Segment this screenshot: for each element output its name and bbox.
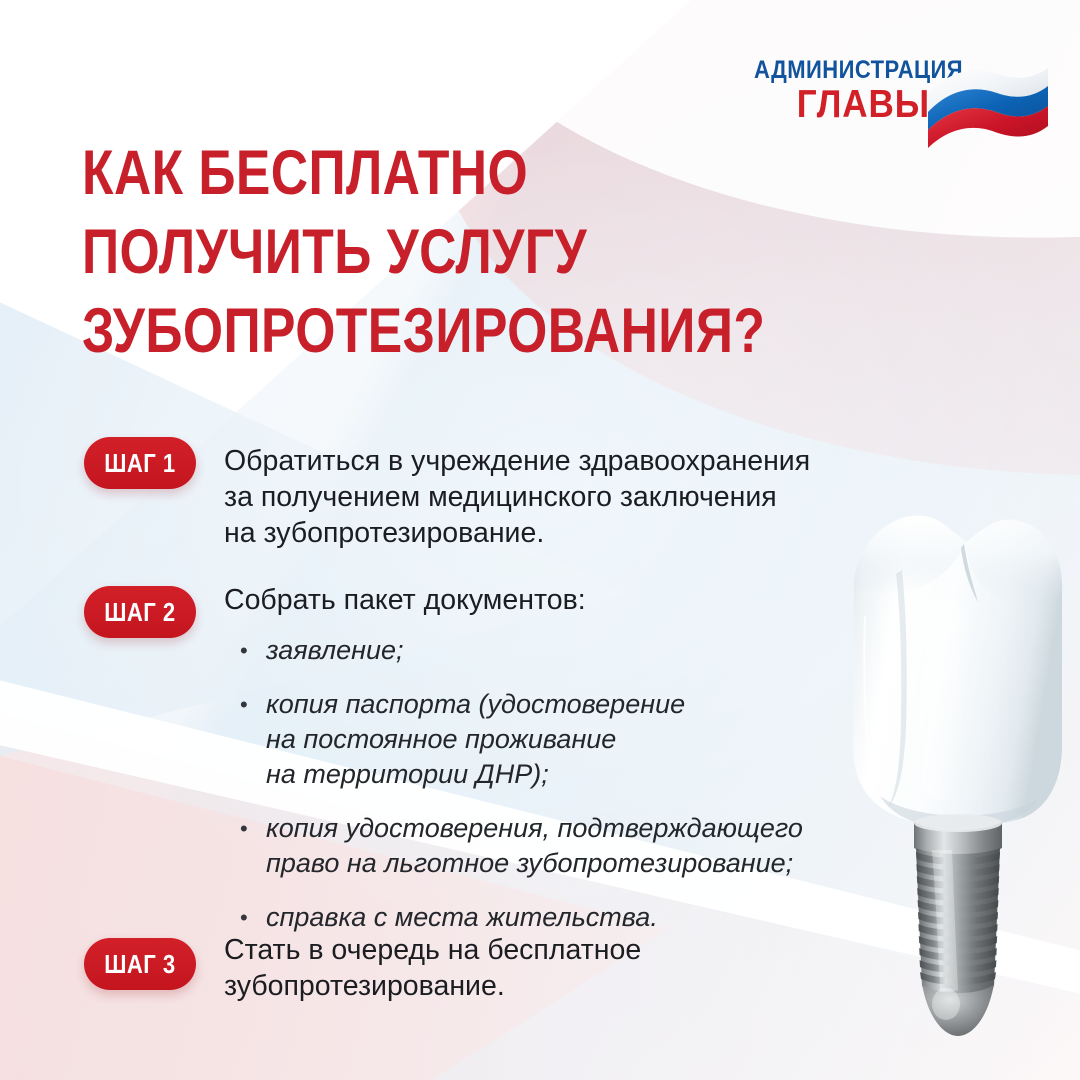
infographic-poster: АДМИНИСТРАЦИЯ ГЛАВЫ — [0, 0, 1080, 1080]
list-item: • копия паспорта (удостоверение на посто… — [240, 687, 803, 792]
page-title: КАК БЕСПЛАТНО ПОЛУЧИТЬ УСЛУГУ ЗУБОПРОТЕЗ… — [82, 134, 782, 371]
title-line-2: ПОЛУЧИТЬ УСЛУГУ — [82, 213, 656, 292]
title-line-3: ЗУБОПРОТЕЗИРОВАНИЯ? — [82, 292, 656, 371]
implant-screw — [916, 848, 1000, 998]
step-2-document-list: • заявление; • копия паспорта (удостовер… — [240, 633, 803, 935]
bullet-icon: • — [240, 900, 248, 935]
list-item: • заявление; — [240, 633, 803, 668]
step-2-badge-label: ШАГ 2 — [104, 597, 175, 628]
bullet-icon: • — [240, 811, 248, 846]
bullet-icon: • — [240, 633, 248, 668]
logo-line-head: ГЛАВЫ — [750, 85, 930, 126]
russian-flag-ribbon-icon — [924, 54, 1052, 158]
step-1-badge-label: ШАГ 1 — [104, 448, 175, 479]
list-item-line: на территории ДНР); — [266, 757, 803, 792]
list-item-line: заявление; — [266, 633, 803, 668]
step-1-badge: ШАГ 1 — [84, 437, 196, 489]
title-line-1: КАК БЕСПЛАТНО — [82, 134, 656, 213]
list-item: • справка с места жительства. — [240, 900, 803, 935]
list-item-line: копия удостоверения, подтверждающего — [266, 811, 803, 846]
list-item-line: копия паспорта (удостоверение — [266, 687, 803, 722]
list-item: • копия удостоверения, подтверждающего п… — [240, 811, 803, 881]
step-2-badge: ШАГ 2 — [84, 586, 196, 638]
step-1-line-1: Обратиться в учреждение здравоохранения — [224, 443, 1080, 479]
implant-collar — [914, 814, 1002, 856]
list-item-line: право на льготное зубопротезирование; — [266, 846, 803, 881]
tooth-crown — [853, 516, 1062, 828]
step-3-badge-label: ШАГ 3 — [104, 949, 175, 980]
step-3-badge: ШАГ 3 — [84, 938, 196, 990]
list-item-line: справка с места жительства. — [266, 900, 803, 935]
dental-implant-illustration — [828, 496, 1080, 1056]
logo-line-administration: АДМИНИСТРАЦИЯ — [754, 58, 930, 83]
list-item-line: на постоянное проживание — [266, 722, 803, 757]
logo-wordmark: АДМИНИСТРАЦИЯ ГЛАВЫ — [730, 58, 930, 126]
bullet-icon: • — [240, 687, 248, 722]
